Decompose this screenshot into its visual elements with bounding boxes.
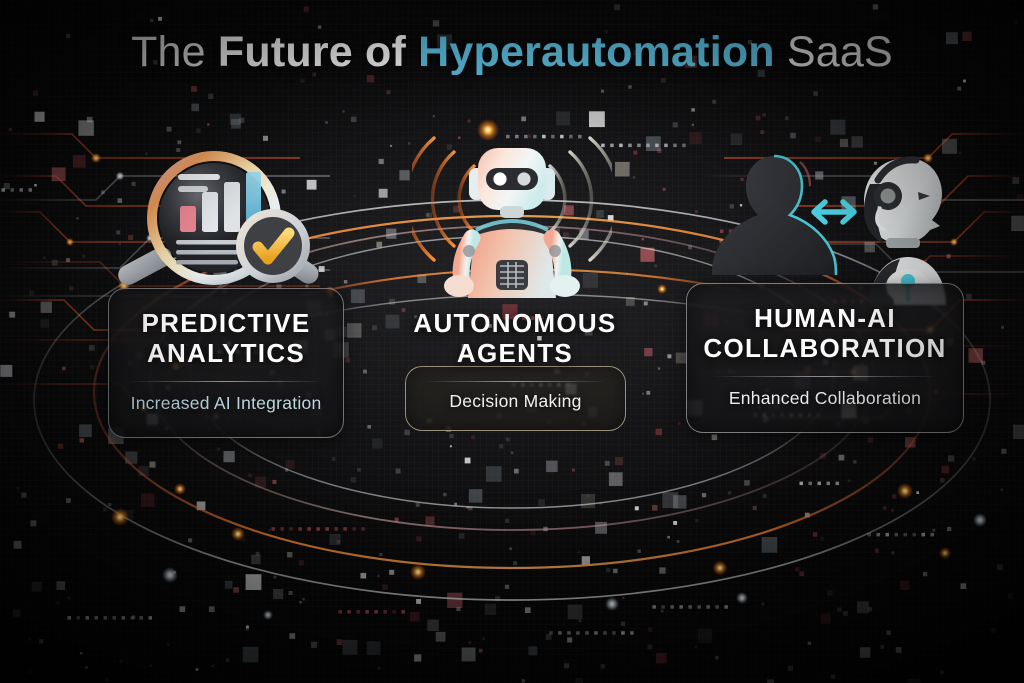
- page-title: The Future of Hyperautomation SaaS: [0, 28, 1024, 77]
- title-segment-the: The: [131, 28, 218, 76]
- pillar-subtitle-human-ai-collaboration: Enhanced Collaboration: [686, 388, 964, 409]
- pillar-divider-1: [128, 381, 324, 382]
- magnifier-bar-chart-check-icon: [110, 148, 330, 308]
- check-badge: [236, 209, 310, 283]
- pillar-title-human-ai-collaboration: HUMAN-AI COLLABORATION: [686, 303, 964, 363]
- title-segment-saas: SaaS: [775, 28, 893, 76]
- human-robot-exchange-icon: [712, 150, 957, 305]
- pillar-title-predictive-analytics: PREDICTIVE ANALYTICS: [108, 308, 344, 368]
- pillar-subtitle-autonomous-agents: Decision Making: [405, 391, 626, 412]
- pillar-subtitle-predictive-analytics: Increased AI Integration: [108, 393, 344, 414]
- title-segment-future-of: Future of: [218, 28, 418, 76]
- pillar-divider-2: [424, 381, 607, 382]
- title-segment-hyperautomation: Hyperautomation: [418, 28, 775, 76]
- infographic-canvas: PREDICTIVE ANALYTICS Increased AI Integr…: [0, 0, 1024, 683]
- pillar-title-autonomous-agents: AUTONOMOUS AGENTS: [385, 308, 645, 368]
- exchange-arrow-icon: [814, 202, 854, 222]
- robot-signal-icon: [412, 118, 612, 298]
- pillar-divider-3: [712, 376, 938, 377]
